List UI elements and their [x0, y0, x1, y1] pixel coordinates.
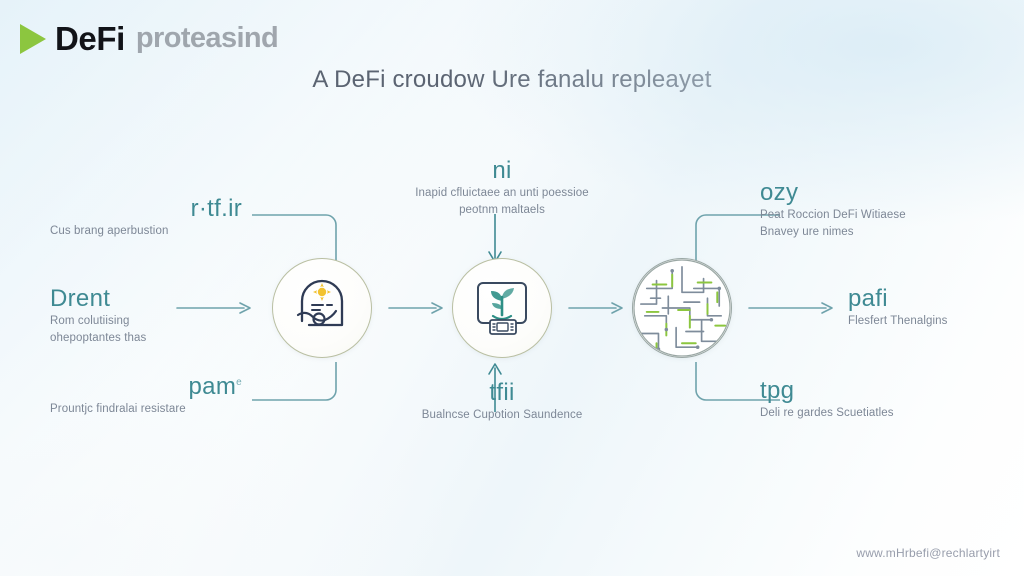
annotation-top-right-heading: ozy [760, 180, 1010, 205]
flow-arrow-1 [388, 300, 450, 316]
annotation-mid-left-desc-line2: ohepoptantes thas [50, 330, 250, 346]
annotation-top-left: r·tf.ir Cus brang aperbustion [50, 196, 300, 240]
annotation-center-top-desc-line1: Inapid cfluictaee an unti poessioe [368, 185, 636, 201]
flow-arrow-2 [568, 300, 630, 316]
annotation-bottom-left-desc: Prountjc findralai resistare [50, 401, 300, 417]
annotation-mid-right: pafi Flesfert Thenalgins [848, 286, 1024, 330]
annotation-mid-right-heading: pafi [848, 286, 1024, 311]
annotation-bottom-left: pame Prountjc findralai resistare [50, 374, 300, 418]
annotation-mid-left: Drent Rom colutiising ohepoptantes thas [50, 286, 250, 346]
annotation-center-bottom-desc: Bualncse Cupotion Saundence [368, 407, 636, 423]
annotation-bottom-right: tpg Deli re gardes Scuetiatles [760, 378, 1010, 422]
slide-canvas: DeFi proteasind A DeFi croudow Ure fanal… [0, 0, 1024, 576]
annotation-top-right-desc-line1: Peat Roccion DeFi Witiaese [760, 207, 1010, 223]
page-title: A DeFi croudow Ure fanalu repleayet [0, 66, 1024, 94]
annotation-bottom-left-sup: e [236, 377, 242, 388]
annotation-top-right-desc: Peat Roccion DeFi Witiaese Bnavey ure ni… [760, 207, 1010, 240]
annotation-top-left-heading: r·tf.ir [50, 196, 300, 221]
annotation-center-bottom-heading: tfii [368, 380, 636, 405]
sprout-terminal-icon [469, 275, 535, 341]
annotation-mid-left-desc: Rom colutiising ohepoptantes thas [50, 313, 250, 346]
node-sprout-terminal[interactable] [452, 258, 552, 358]
flow-arrow-3 [748, 300, 840, 316]
node-network-maze[interactable] [632, 258, 732, 358]
annotation-mid-left-desc-line1: Rom colutiising [50, 313, 250, 329]
annotation-bottom-right-desc: Deli re gardes Scuetiatles [760, 405, 1010, 421]
annotation-center-top-heading: ni [368, 158, 636, 183]
network-maze-icon [633, 258, 731, 358]
brand-subname: proteasind [136, 24, 278, 53]
annotation-mid-right-desc: Flesfert Thenalgins [848, 313, 1024, 329]
annotation-center-top: ni Inapid cfluictaee an unti poessioe pe… [368, 158, 636, 218]
annotation-top-left-desc: Cus brang aperbustion [50, 223, 300, 239]
annotation-top-right: ozy Peat Roccion DeFi Witiaese Bnavey ur… [760, 180, 1010, 240]
footer-url[interactable]: www.mHrbefi@rechlartyirt [856, 546, 1000, 560]
brand-logo: DeFi proteasind [20, 22, 278, 55]
annotation-center-bottom: tfii Bualncse Cupotion Saundence [368, 380, 636, 424]
annotation-center-top-desc: Inapid cfluictaee an unti poessioe peotn… [368, 185, 636, 218]
annotation-mid-left-heading: Drent [50, 286, 250, 311]
brand-name: DeFi [55, 22, 125, 55]
annotation-top-right-desc-line2: Bnavey ure nimes [760, 224, 1010, 240]
annotation-bottom-left-heading: pame [50, 374, 300, 399]
annotation-bottom-right-heading: tpg [760, 378, 1010, 403]
head-idea-icon [289, 275, 355, 341]
annotation-center-top-desc-line2: peotnm maltaels [368, 202, 636, 218]
play-triangle-icon [20, 24, 46, 54]
node-head-idea[interactable] [272, 258, 372, 358]
